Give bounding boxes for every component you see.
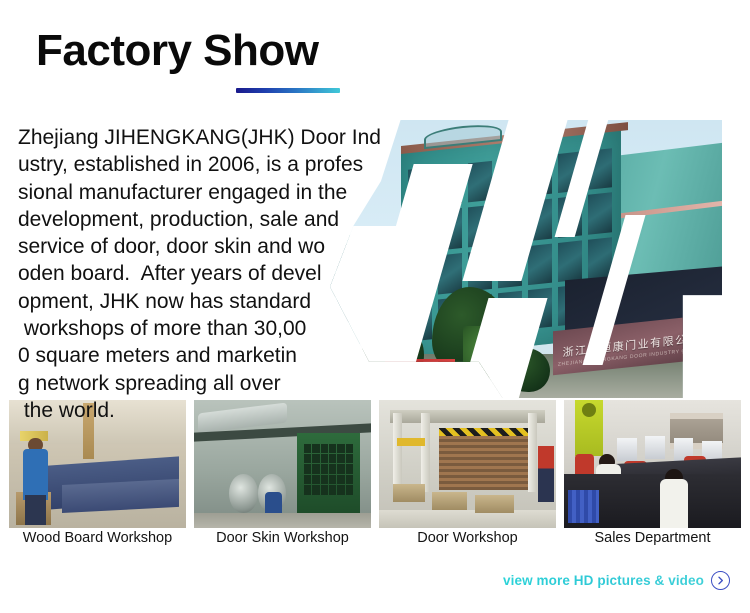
gallery-thumbnail-sales-department[interactable] [564, 400, 741, 528]
caption-door-skin-workshop: Door Skin Workshop [194, 530, 371, 546]
page-title-block: Factory Show [36, 28, 319, 74]
caption-sales-department: Sales Department [564, 530, 741, 546]
chevron-right-circle-icon[interactable] [711, 571, 730, 590]
company-intro-paragraph: Zhejiang JIHENGKANG(JHK) Door Ind ustry,… [18, 124, 438, 424]
caption-door-workshop: Door Workshop [379, 530, 556, 546]
page-title: Factory Show [36, 28, 319, 74]
view-more-link-label: view more HD pictures & video [503, 573, 704, 588]
view-more-hd-pictures-link[interactable]: view more HD pictures & video [503, 571, 730, 590]
title-underline-accent [236, 88, 340, 93]
factory-show-page: Factory Show Zhejiang JIHENGKANG(JHK) Do… [0, 0, 750, 613]
caption-wood-board-workshop: Wood Board Workshop [9, 530, 186, 546]
gallery-caption-row: Wood Board Workshop Door Skin Workshop D… [9, 530, 741, 546]
